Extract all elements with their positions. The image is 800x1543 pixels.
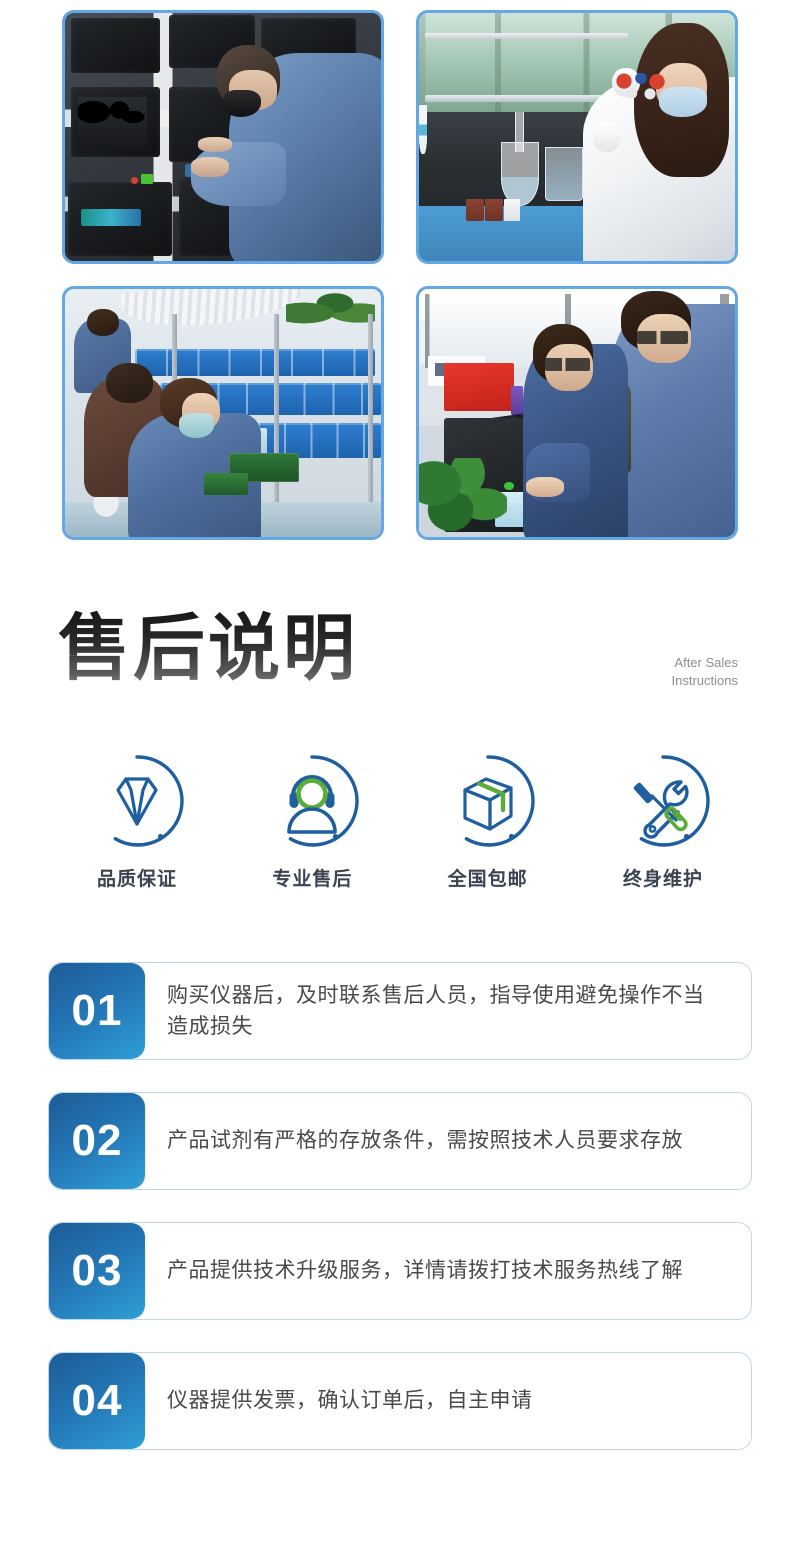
subtitle-line-2: Instructions [672,672,738,690]
tools-wrench-screwdriver-icon [614,752,712,850]
card-number-badge: 01 [49,963,145,1059]
face-mask [179,413,214,438]
section-header: 售后说明 After Sales Instructions [0,608,800,718]
reagent-bottle [466,199,483,221]
package-box-icon [439,752,537,850]
red-storage-box [444,363,514,410]
photo-gallery [62,10,738,542]
decorative-plant [286,289,374,329]
diamond-icon [88,752,186,850]
face-mask [659,87,706,117]
feature-lifetime-maintenance[interactable]: 终身维护 [588,752,738,902]
instruction-card-list: 01 购买仪器后，及时联系售后人员，指导使用避免操作不当造成损失 02 产品试剂… [48,962,752,1450]
feature-label: 专业售后 [272,864,352,891]
worker-hand [198,137,233,152]
eyeglasses [545,358,589,370]
shelf-post [368,314,373,502]
card-text: 产品提供技术升级服务，详情请拨打技术服务热线了解 [145,1223,751,1319]
photo-engineers-testing-device [416,286,738,540]
photo-laboratory-technician [416,10,738,264]
card-number-badge: 03 [49,1223,145,1319]
instruction-card[interactable]: 03 产品提供技术升级服务，详情请拨打技术服务热线了解 [48,1222,752,1320]
instruction-card[interactable]: 01 购买仪器后，及时联系售后人员，指导使用避免操作不当造成损失 [48,962,752,1060]
reagent-bottle [485,199,502,221]
ventilation-duct [120,289,306,333]
pipette [419,105,427,155]
gloved-hand [593,122,621,152]
worker-head [106,363,153,403]
circuit-board [204,473,248,495]
molecule-model [615,73,666,103]
engineer-hand [526,477,564,497]
foreground-plant [419,458,507,537]
feature-quality-guarantee[interactable]: 品质保证 [62,752,212,902]
parts-bin-row [135,349,375,376]
background-worker-head [87,309,119,336]
status-indicator [131,177,137,184]
after-sales-page: 售后说明 After Sales Instructions [0,0,800,1543]
reagent-bottle [504,199,520,221]
foam-insert [78,97,148,147]
bottle [511,386,524,416]
shelf-rail [425,33,627,39]
card-text: 产品试剂有严格的存放条件，需按照技术人员要求存放 [145,1093,751,1189]
page-subtitle-english: After Sales Instructions [672,654,738,689]
card-text: 仪器提供发票，确认订单后，自主申请 [145,1353,751,1449]
feature-label: 全国包邮 [448,864,528,891]
feature-label: 终身维护 [623,864,703,891]
card-number-badge: 02 [49,1093,145,1189]
device-screen [81,209,141,226]
feature-list: 品质保证 专业售后 [62,752,738,902]
card-number-badge: 04 [49,1353,145,1449]
headset-support-icon [263,752,361,850]
instruction-card[interactable]: 02 产品试剂有严格的存放条件，需按照技术人员要求存放 [48,1092,752,1190]
eyeglasses [637,331,688,343]
feature-free-shipping[interactable]: 全国包邮 [413,752,563,902]
card-text: 购买仪器后，及时联系售后人员，指导使用避免操作不当造成损失 [145,963,751,1059]
photo-assembly-line [62,286,384,540]
status-indicator [141,174,154,184]
photo-warehouse-instrument-cases [62,10,384,264]
page-title: 售后说明 [58,608,358,691]
subtitle-line-1: After Sales [672,654,738,672]
instrument-case [71,18,159,73]
feature-label: 品质保证 [97,864,177,891]
instruction-card[interactable]: 04 仪器提供发票，确认订单后，自主申请 [48,1352,752,1450]
volumetric-flask [501,142,539,206]
feature-professional-service[interactable]: 专业售后 [237,752,387,902]
beaker [545,147,583,202]
worker-hand [191,157,229,177]
